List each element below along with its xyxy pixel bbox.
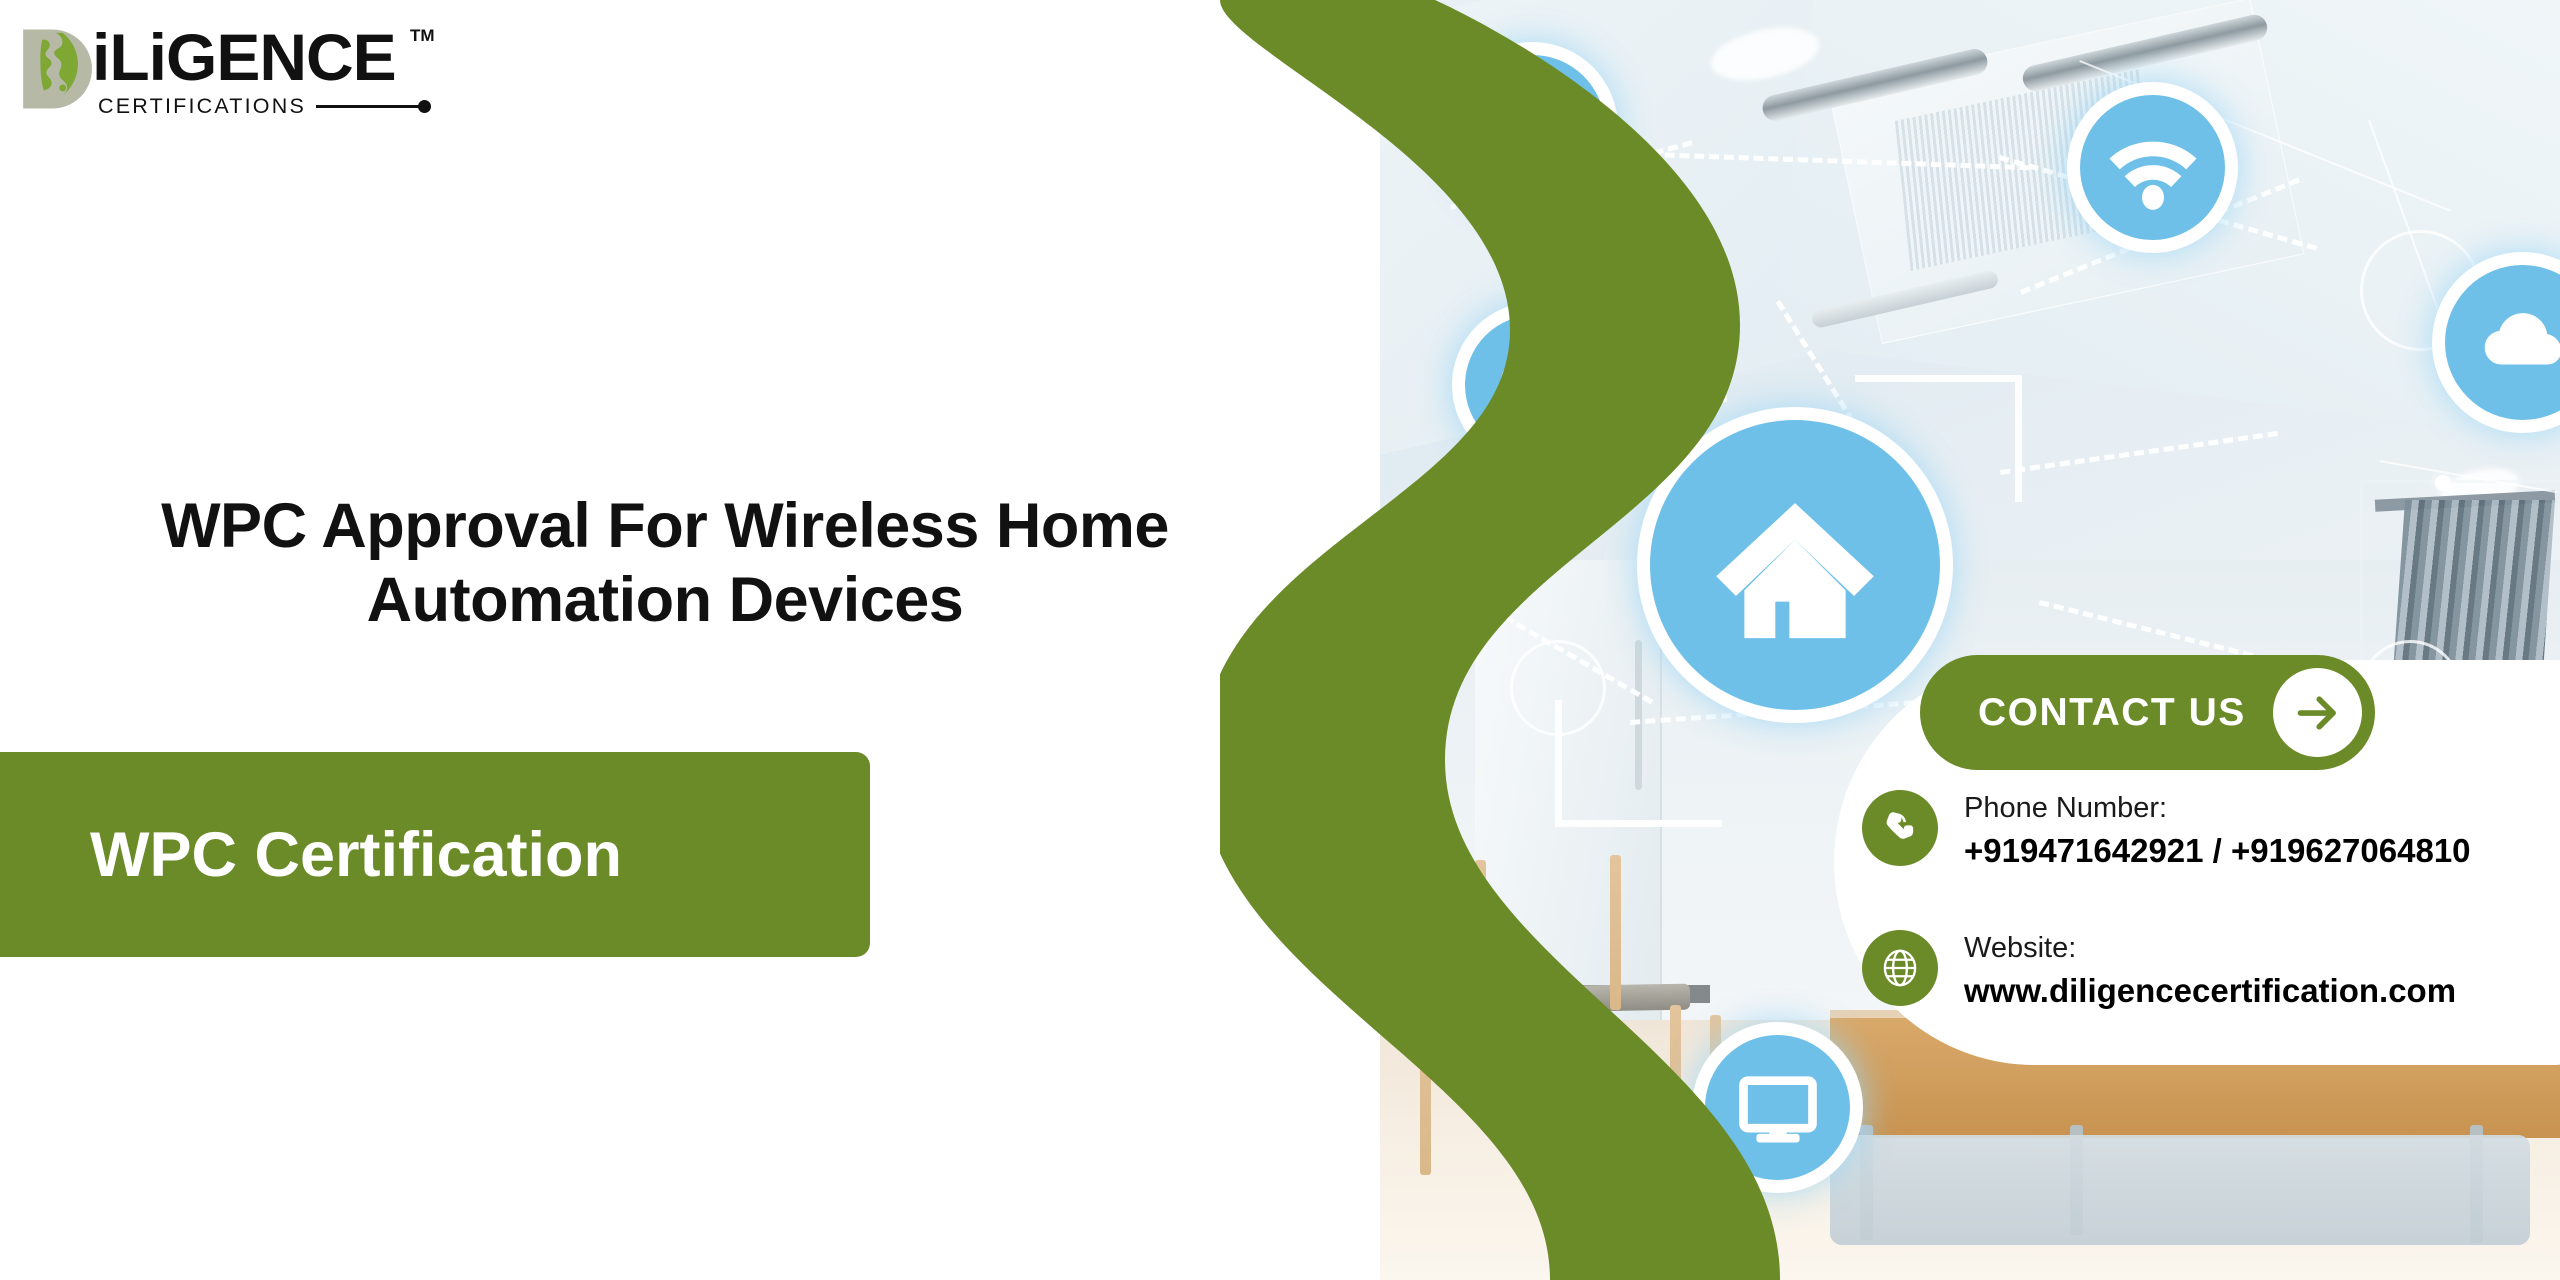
wifi-icon xyxy=(2080,95,2225,240)
area-rug xyxy=(1830,1135,2530,1245)
network-dot xyxy=(2435,475,2451,491)
chair-leg xyxy=(1670,1005,1681,1177)
contact-phone-value[interactable]: +919471642921 / +919627064810 xyxy=(1964,830,2471,873)
logo-trademark-symbol: TM xyxy=(410,26,435,46)
headline-line-1: WPC Approval For Wireless Home xyxy=(0,490,1330,564)
smart-home-interior-photo xyxy=(1380,0,2560,1280)
thermostat-icon xyxy=(1465,315,1605,455)
contact-row-phone: Phone Number: +919471642921 / +919627064… xyxy=(1862,790,2471,873)
contact-website-value[interactable]: www.diligencecertification.com xyxy=(1964,970,2456,1013)
headline-line-2: Automation Devices xyxy=(0,564,1330,638)
logo-rule xyxy=(316,105,428,108)
chair-leg xyxy=(1420,1000,1431,1175)
chair-back-post xyxy=(1610,855,1621,1010)
logo-subtitle: CERTIFICATIONS xyxy=(98,94,306,119)
contact-row-website: Website: www.diligencecertification.com xyxy=(1862,930,2456,1013)
diligence-certifications-logo[interactable]: iLiGENCE TM CERTIFICATIONS xyxy=(18,18,438,118)
contact-website-text: Website: www.diligencecertification.com xyxy=(1964,930,2456,1013)
logo-subtitle-row: CERTIFICATIONS xyxy=(98,94,428,119)
contact-us-label: CONTACT US xyxy=(1978,691,2246,735)
left-content-panel xyxy=(0,0,1500,1280)
service-tag-label: WPC Certification xyxy=(90,819,622,891)
arrow-right-icon xyxy=(2273,668,2362,757)
logo-main-text: iLiGENCE xyxy=(92,24,396,90)
chair-leg xyxy=(1530,1000,1541,1180)
contact-website-label: Website: xyxy=(1964,932,2456,965)
chair-leg xyxy=(1555,1005,1566,1180)
phone-icon xyxy=(1862,790,1938,866)
focus-bracket xyxy=(1555,700,1722,827)
service-tag-banner: WPC Certification xyxy=(0,752,870,957)
logo-wordmark: iLiGENCE xyxy=(92,24,396,90)
promo-banner: iLiGENCE TM CERTIFICATIONS WPC Approval … xyxy=(0,0,2560,1280)
contact-phone-label: Phone Number: xyxy=(1964,792,2471,825)
ceiling-lamp-icon xyxy=(1460,55,1605,200)
home-icon xyxy=(1650,420,1940,710)
globe-grid-icon xyxy=(1862,930,1938,1006)
chair-back-post xyxy=(1475,860,1486,1010)
contact-us-button[interactable]: CONTACT US xyxy=(1920,655,2375,770)
contact-phone-text: Phone Number: +919471642921 / +919627064… xyxy=(1964,790,2471,873)
monitor-icon xyxy=(1705,1035,1850,1180)
page-title: WPC Approval For Wireless Home Automatio… xyxy=(0,490,1330,637)
